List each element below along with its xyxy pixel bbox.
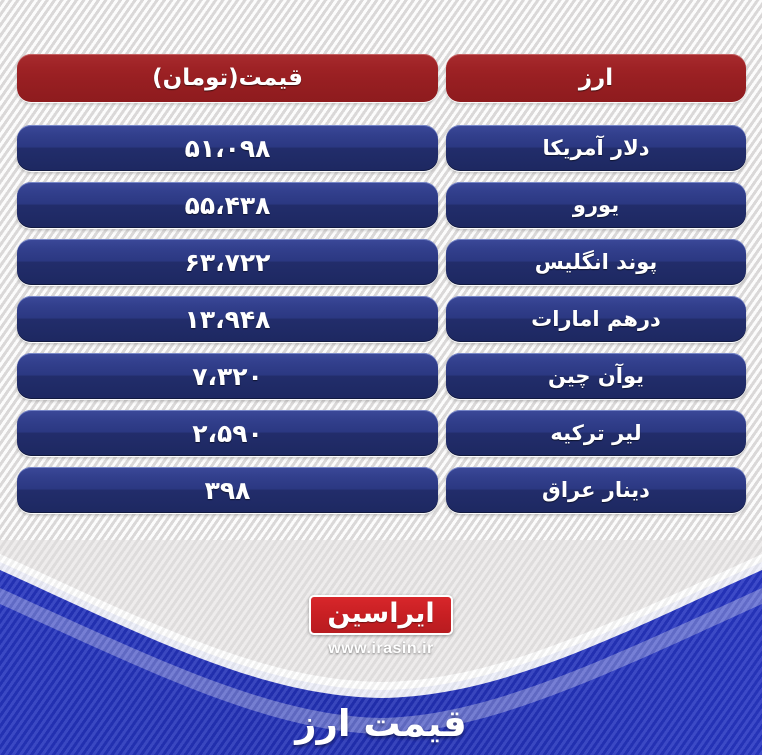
cell-currency-name: یوآن چین [446, 353, 746, 399]
cell-currency-price: ۱۳،۹۴۸ [17, 296, 438, 342]
cell-currency-name: پوند انگلیس [446, 239, 746, 285]
brand-block: ایراسین www.irasin.ir [0, 595, 762, 658]
currency-name: دینار عراق [542, 478, 650, 502]
table-row[interactable]: لیر ترکیه ۲،۵۹۰ [0, 407, 762, 459]
website-url[interactable]: www.irasin.ir [0, 640, 762, 658]
header-label-currency: ارز [579, 65, 613, 91]
cell-currency-name: درهم امارات [446, 296, 746, 342]
cell-currency-name: لیر ترکیه [446, 410, 746, 456]
table-row[interactable]: درهم امارات ۱۳،۹۴۸ [0, 293, 762, 345]
table-row[interactable]: یورو ۵۵،۴۳۸ [0, 179, 762, 231]
irasin-logo[interactable]: ایراسین [309, 595, 452, 635]
currency-rates-infographic: ارز قیمت(تومان) دلار آمریکا ۵۱،۰۹۸ یورو [0, 0, 762, 755]
currency-price: ۷،۳۲۰ [192, 362, 263, 391]
currency-name: درهم امارات [531, 307, 661, 331]
table-row[interactable]: دلار آمریکا ۵۱،۰۹۸ [0, 122, 762, 174]
cell-currency-name: یورو [446, 182, 746, 228]
table-row[interactable]: پوند انگلیس ۶۳،۷۲۲ [0, 236, 762, 288]
header-label-price: قیمت(تومان) [152, 65, 303, 91]
header-cell-price: قیمت(تومان) [17, 54, 438, 102]
currency-name: دلار آمریکا [542, 136, 649, 160]
currency-rates-table: ارز قیمت(تومان) دلار آمریکا ۵۱،۰۹۸ یورو [0, 0, 762, 540]
currency-price: ۵۵،۴۳۸ [185, 191, 271, 220]
cell-currency-price: ۳۹۸ [17, 467, 438, 513]
currency-price: ۱۳،۹۴۸ [185, 305, 271, 334]
logo-wordmark: ایراسین [327, 600, 434, 628]
cell-currency-price: ۵۵،۴۳۸ [17, 182, 438, 228]
currency-price: ۳۹۸ [205, 476, 251, 505]
table-header-row: ارز قیمت(تومان) [0, 52, 762, 104]
footer-banner: ایراسین www.irasin.ir قیمت ارز [0, 540, 762, 755]
currency-price: ۲،۵۹۰ [192, 419, 263, 448]
table-row[interactable]: یوآن چین ۷،۳۲۰ [0, 350, 762, 402]
cell-currency-name: دینار عراق [446, 467, 746, 513]
cell-currency-price: ۶۳،۷۲۲ [17, 239, 438, 285]
cell-currency-name: دلار آمریکا [446, 125, 746, 171]
table-row[interactable]: دینار عراق ۳۹۸ [0, 464, 762, 516]
page-title: قیمت ارز [0, 702, 762, 745]
currency-name: یورو [573, 193, 619, 217]
cell-currency-price: ۵۱،۰۹۸ [17, 125, 438, 171]
cell-currency-price: ۲،۵۹۰ [17, 410, 438, 456]
currency-name: پوند انگلیس [535, 250, 658, 274]
currency-name: یوآن چین [548, 364, 644, 388]
currency-price: ۵۱،۰۹۸ [185, 134, 271, 163]
header-cell-currency: ارز [446, 54, 746, 102]
cell-currency-price: ۷،۳۲۰ [17, 353, 438, 399]
currency-name: لیر ترکیه [550, 421, 641, 445]
currency-price: ۶۳،۷۲۲ [185, 248, 271, 277]
